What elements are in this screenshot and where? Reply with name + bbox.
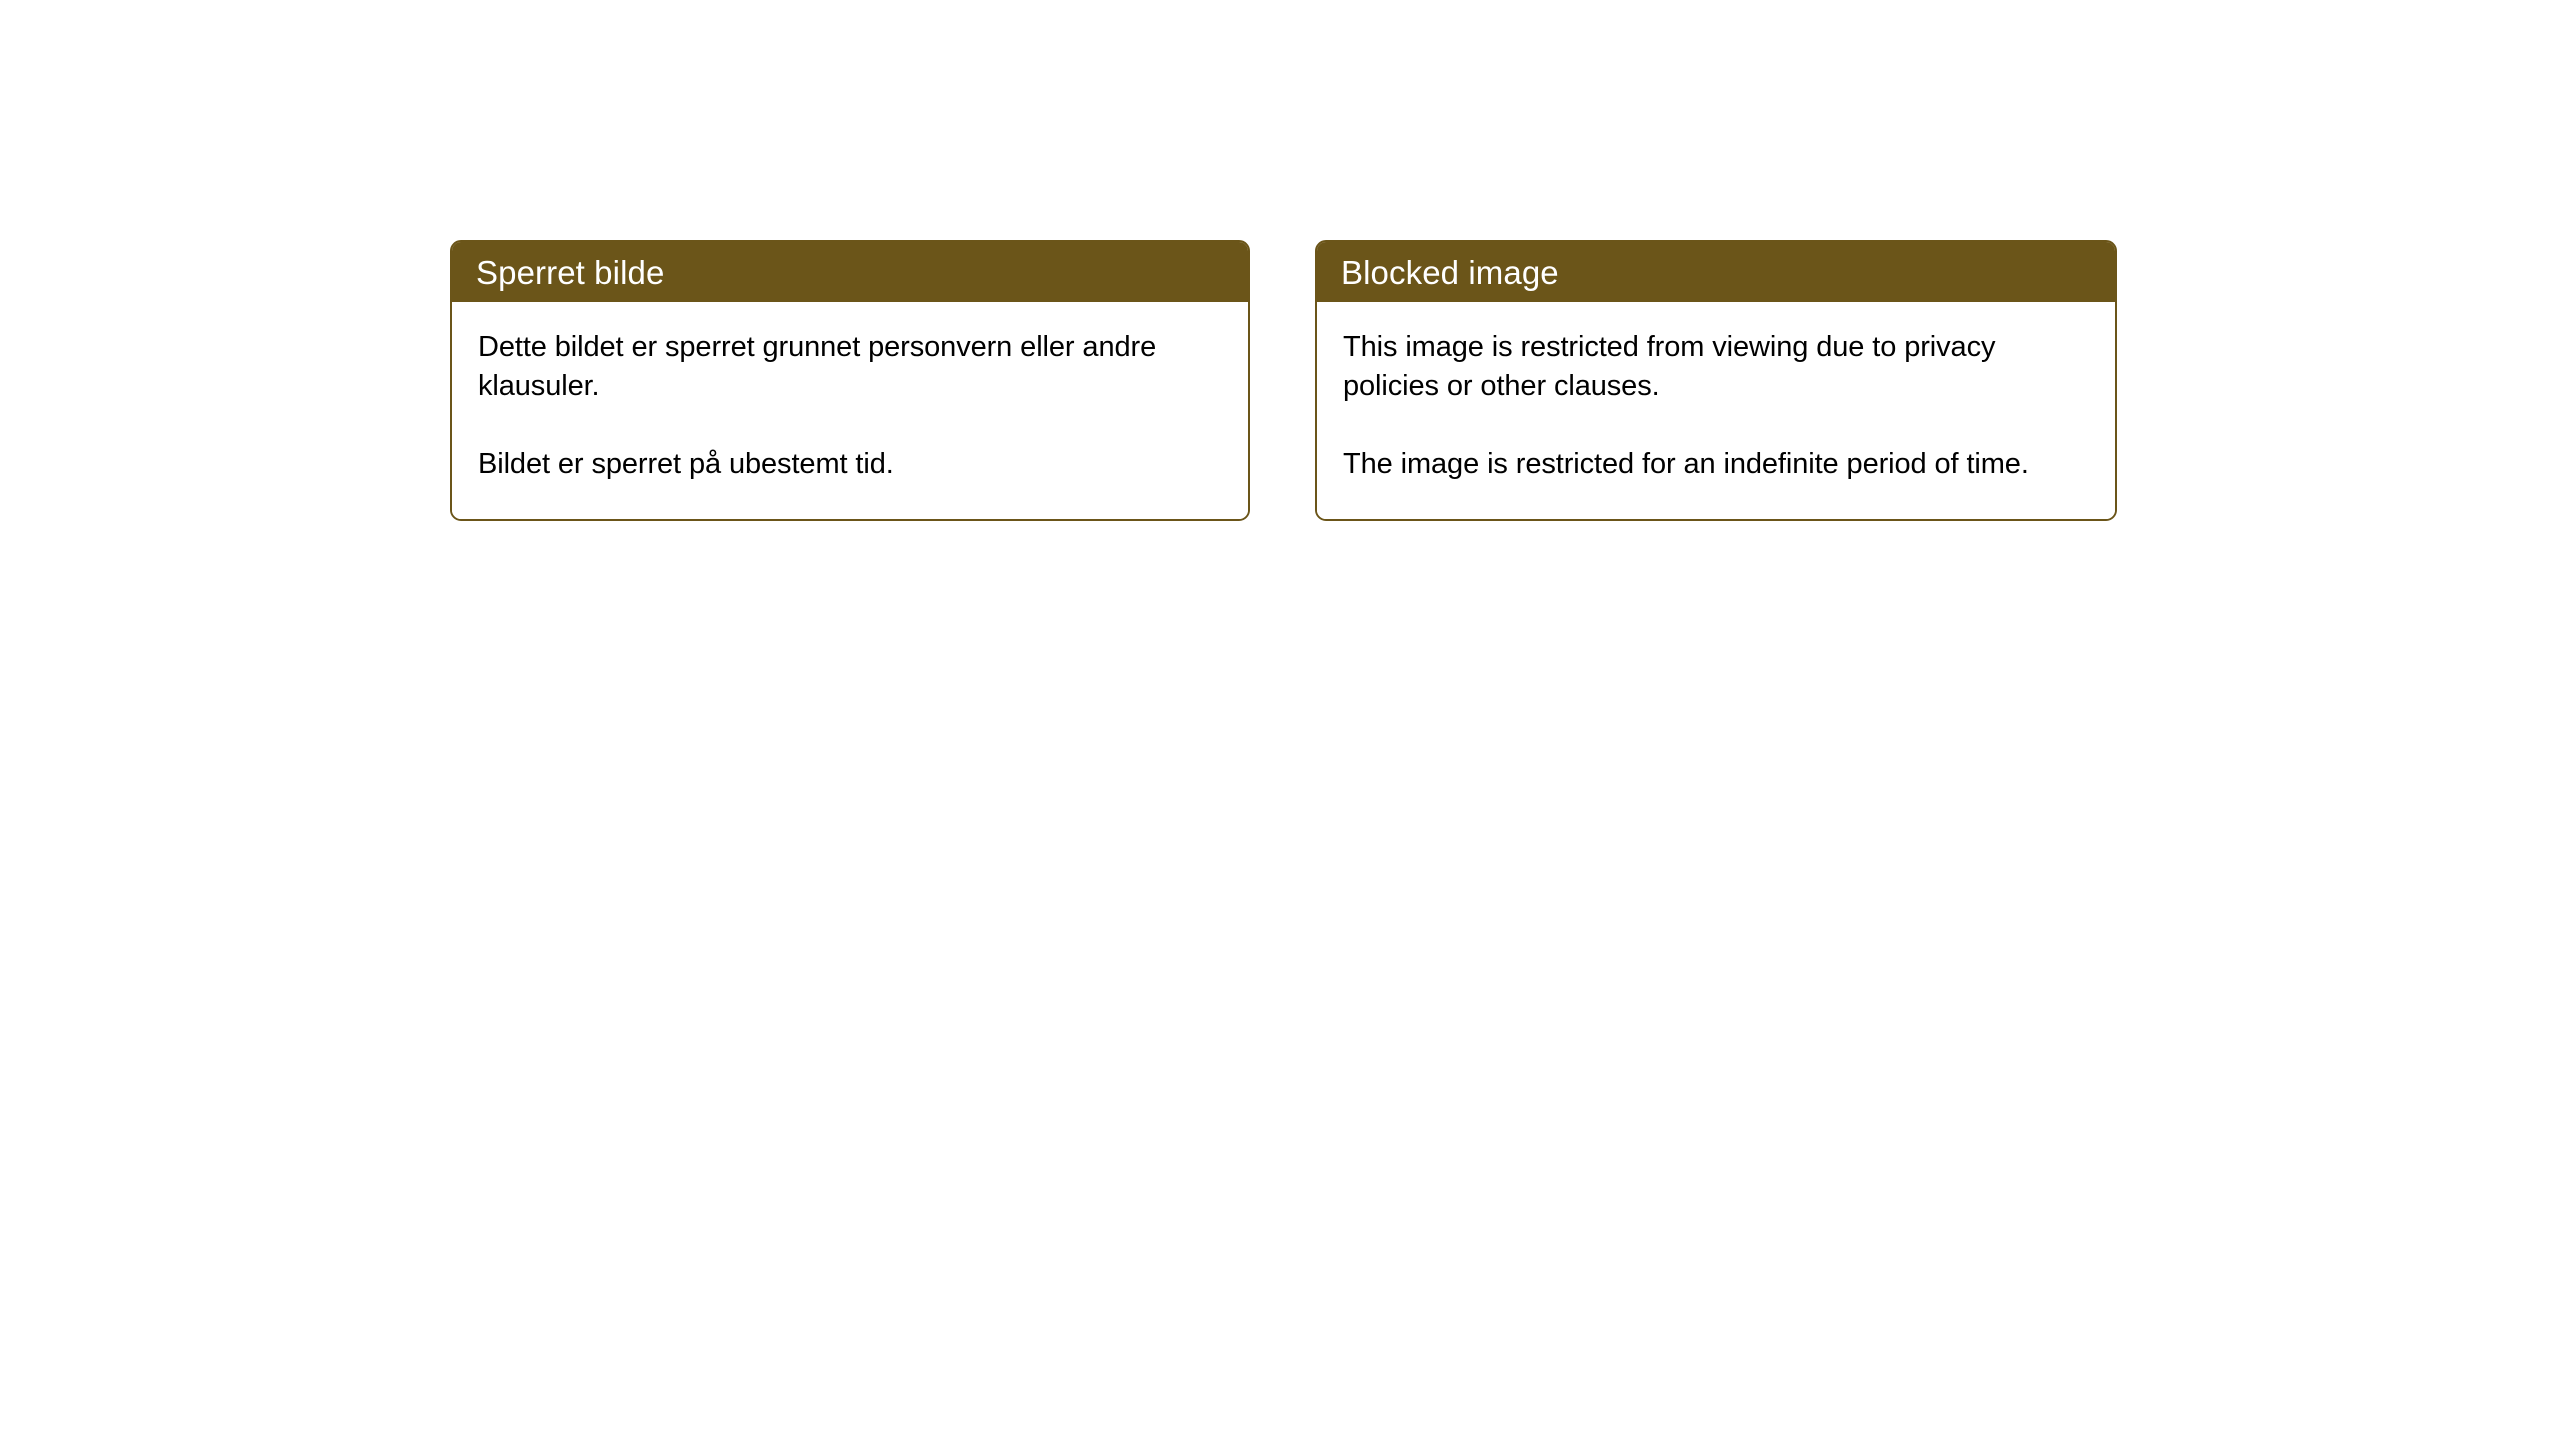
card-paragraph-secondary-english: The image is restricted for an indefinit… [1343,445,2091,484]
card-header-english: Blocked image [1317,242,2115,302]
card-paragraph-primary-norwegian: Dette bildet er sperret grunnet personve… [478,328,1224,405]
card-title-norwegian: Sperret bilde [476,256,664,289]
card-title-english: Blocked image [1341,256,1559,289]
blocked-image-notice-area: Sperret bilde Dette bildet er sperret gr… [450,240,2117,521]
blocked-image-card-english: Blocked image This image is restricted f… [1315,240,2117,521]
card-paragraph-secondary-norwegian: Bildet er sperret på ubestemt tid. [478,445,1224,484]
card-body-english: This image is restricted from viewing du… [1317,302,2115,519]
blocked-image-card-norwegian: Sperret bilde Dette bildet er sperret gr… [450,240,1250,521]
card-body-norwegian: Dette bildet er sperret grunnet personve… [452,302,1248,519]
card-paragraph-primary-english: This image is restricted from viewing du… [1343,328,2091,405]
card-header-norwegian: Sperret bilde [452,242,1248,302]
